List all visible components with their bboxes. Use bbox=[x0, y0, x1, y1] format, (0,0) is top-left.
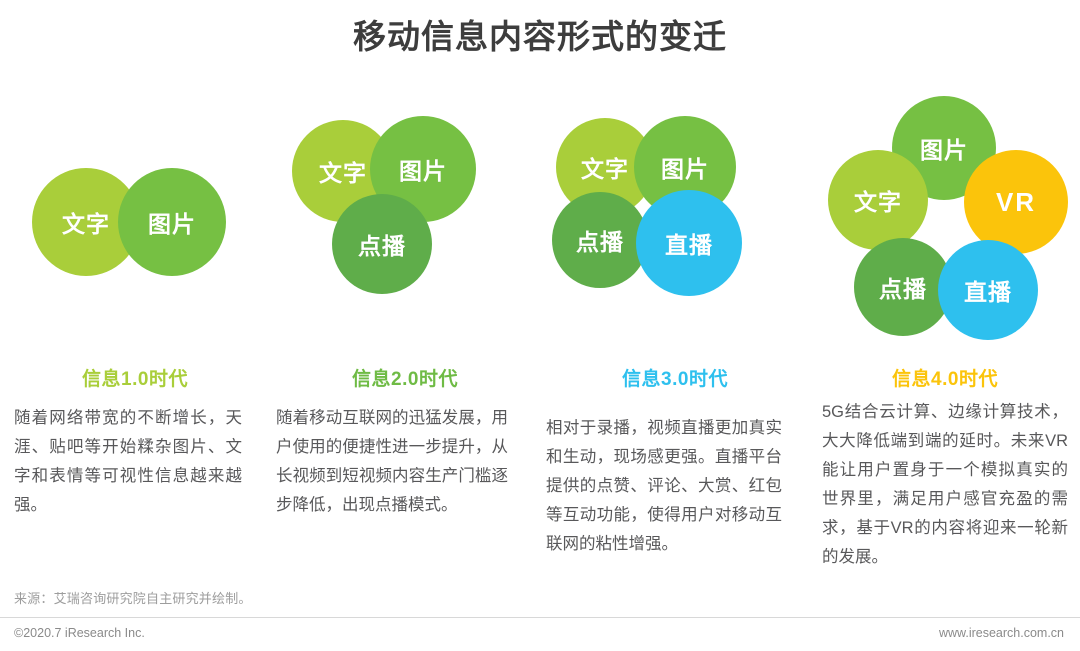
bubble-on-demand: 点播 bbox=[552, 192, 648, 288]
bubble-cluster-1: 文字 图片 bbox=[0, 92, 270, 360]
bubble-on-demand: 点播 bbox=[332, 194, 432, 294]
bubble-vr: VR bbox=[964, 150, 1068, 254]
source-note: 来源：艾瑞咨询研究院自主研究并绘制。 bbox=[14, 588, 252, 607]
bubble-image: 图片 bbox=[118, 168, 226, 276]
bubble-live: 直播 bbox=[636, 190, 742, 296]
bubble-text: 文字 bbox=[828, 150, 928, 250]
era-body-2: 随着移动互联网的迅猛发展，用户使用的便捷性进一步提升，从长视频到短视频内容生产门… bbox=[276, 404, 508, 520]
era-label-2: 信息2.0时代 bbox=[270, 364, 540, 391]
footer-divider bbox=[0, 617, 1080, 618]
era-column-1: 文字 图片 信息1.0时代 随着网络带宽的不断增长，天涯、贴吧等开始糅杂图片、文… bbox=[0, 92, 270, 592]
footer-website: www.iresearch.com.cn bbox=[939, 626, 1064, 640]
era-column-3: 文字 图片 点播 直播 信息3.0时代 相对于录播，视频直播更加真实和生动，现场… bbox=[540, 92, 810, 592]
footer-copyright: ©2020.7 iResearch Inc. bbox=[14, 626, 145, 640]
bubble-cluster-4: 图片 文字 VR 点播 直播 bbox=[810, 92, 1080, 360]
era-body-4: 5G结合云计算、边缘计算技术，大大降低端到端的延时。未来VR能让用户置身于一个模… bbox=[822, 398, 1068, 572]
era-label-3: 信息3.0时代 bbox=[540, 364, 810, 391]
era-body-1: 随着网络带宽的不断增长，天涯、贴吧等开始糅杂图片、文字和表情等可视性信息越来越强… bbox=[14, 404, 242, 520]
era-column-2: 文字 图片 点播 信息2.0时代 随着移动互联网的迅猛发展，用户使用的便捷性进一… bbox=[270, 92, 540, 592]
page-title: 移动信息内容形式的变迁 bbox=[0, 10, 1080, 64]
bubble-cluster-2: 文字 图片 点播 bbox=[270, 92, 540, 360]
bubble-cluster-3: 文字 图片 点播 直播 bbox=[540, 92, 810, 360]
era-column-4: 图片 文字 VR 点播 直播 信息4.0时代 5G结合云计算、边缘计算技术，大大… bbox=[810, 92, 1080, 592]
bubble-live: 直播 bbox=[938, 240, 1038, 340]
era-columns: 文字 图片 信息1.0时代 随着网络带宽的不断增长，天涯、贴吧等开始糅杂图片、文… bbox=[0, 92, 1080, 592]
era-label-1: 信息1.0时代 bbox=[0, 364, 270, 391]
era-label-4: 信息4.0时代 bbox=[810, 364, 1080, 391]
era-body-3: 相对于录播，视频直播更加真实和生动，现场感更强。直播平台提供的点赞、评论、大赏、… bbox=[546, 414, 782, 559]
